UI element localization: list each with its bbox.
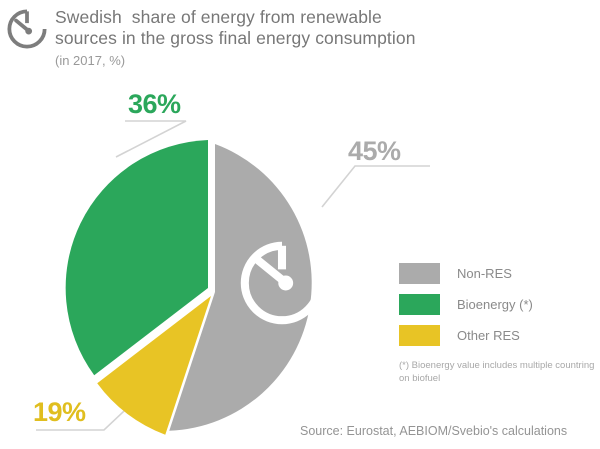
legend-item-bioenergy[interactable]: Bioenergy (*) [399,294,595,315]
data-label-bioenergy: 36% [128,89,181,120]
chart-canvas: Swedish share of energy from renewable s… [0,0,600,449]
legend-item-non-res[interactable]: Non-RES [399,263,595,284]
legend-label-bioenergy: Bioenergy (*) [457,297,533,312]
data-label-other-res: 19% [33,397,86,428]
legend-item-other-res[interactable]: Other RES [399,325,595,346]
legend-footnote: (*) Bioenergy value includes multiple co… [399,359,595,385]
legend-swatch-non-res [399,263,440,284]
source-note: Source: Eurostat, AEBIOM/Svebio's calcul… [300,424,567,438]
legend-label-other-res: Other RES [457,328,520,343]
legend-label-non-res: Non-RES [457,266,512,281]
data-label-non-res: 45% [348,136,401,167]
legend-swatch-bioenergy [399,294,440,315]
chart-legend: Non-RES Bioenergy (*) Other RES [399,263,595,356]
legend-swatch-other-res [399,325,440,346]
